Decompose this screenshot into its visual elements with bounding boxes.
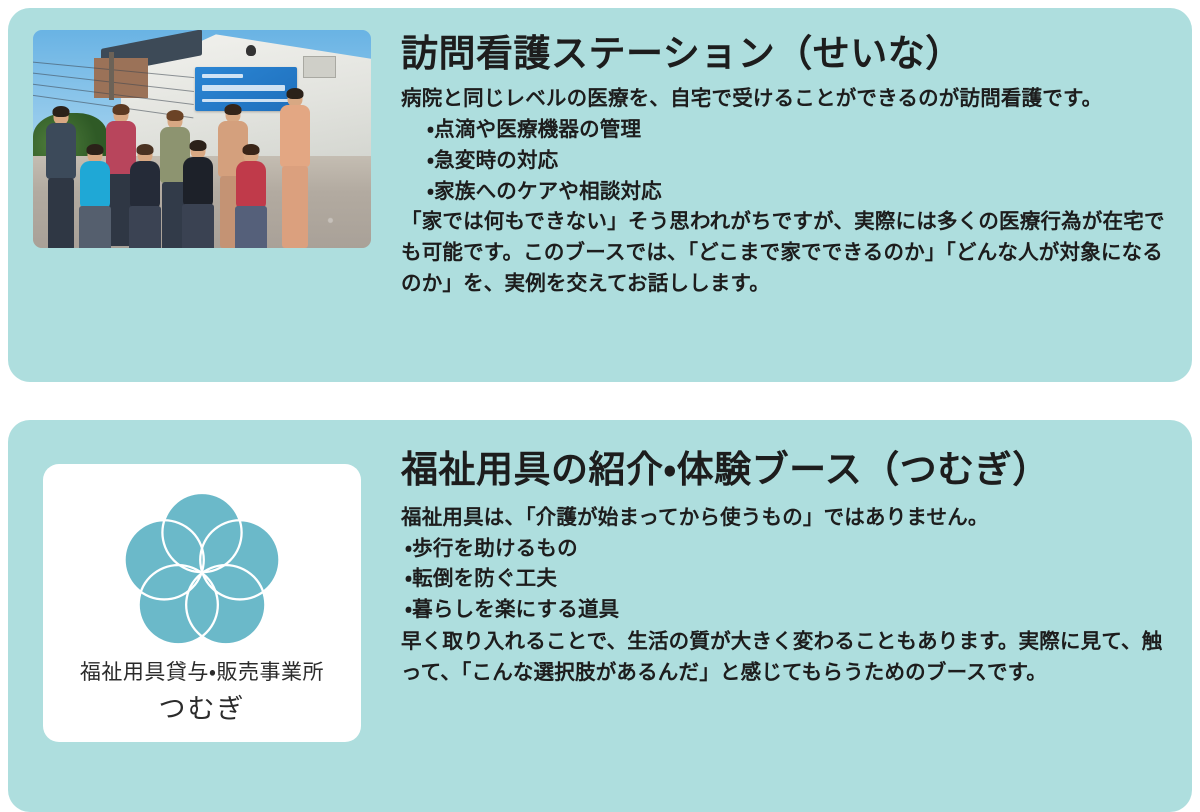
photo-wall-vent <box>303 56 335 78</box>
list-item: ・転倒を防ぐ工夫 <box>405 564 1172 595</box>
staff-group-photo <box>33 30 371 248</box>
list-item: ・点滴や医療機器の管理 <box>427 115 1172 146</box>
five-circles-logo-icon <box>114 478 290 654</box>
photo-security-camera <box>246 45 256 56</box>
card-media-column <box>33 30 373 248</box>
outro-text: 早く取り入れることで、生活の質が大きく変わることもあります。実際に見て、触って、… <box>401 626 1172 688</box>
card-visiting-nursing-station: 訪問看護ステーション（せいな） 病院と同じレベルの医療を、自宅で受けることができ… <box>8 8 1192 382</box>
list-item: ・急変時の対応 <box>427 146 1172 177</box>
logo-brand-name: つむぎ <box>159 687 246 726</box>
page-title: 福祉用具の紹介・体験ブース（つむぎ） <box>401 448 1172 492</box>
tsumugi-logo-card: 福祉用具貸与・販売事業所 つむぎ <box>43 464 361 742</box>
list-item: ・歩行を助けるもの <box>405 534 1172 565</box>
intro-text: 病院と同じレベルの医療を、自宅で受けることができるのが訪問看護です。 <box>401 84 1172 115</box>
card-text-column: 訪問看護ステーション（せいな） 病院と同じレベルの医療を、自宅で受けることができ… <box>373 30 1172 300</box>
page-root: 訪問看護ステーション（せいな） 病院と同じレベルの医療を、自宅で受けることができ… <box>0 0 1200 800</box>
feature-bullet-list: ・点滴や医療機器の管理 ・急変時の対応 ・家族へのケアや相談対応 <box>401 115 1172 207</box>
outro-text: 「家では何もできない」そう思われがちですが、実際には多くの医療行為が在宅でも可能… <box>401 207 1172 299</box>
list-item: ・暮らしを楽にする道具 <box>405 595 1172 626</box>
list-item: ・家族へのケアや相談対応 <box>427 177 1172 208</box>
intro-text: 福祉用具は、「介護が始まってから使うもの」ではありません。 <box>401 502 1172 533</box>
page-title: 訪問看護ステーション（せいな） <box>401 32 1172 76</box>
card-welfare-equipment-booth: 福祉用具貸与・販売事業所 つむぎ 福祉用具の紹介・体験ブース（つむぎ） 福祉用具… <box>8 420 1192 812</box>
photo-station-sign <box>195 67 296 111</box>
logo-business-name: 福祉用具貸与・販売事業所 <box>80 656 324 686</box>
card-text-column: 福祉用具の紹介・体験ブース（つむぎ） 福祉用具は、「介護が始まってから使うもの」… <box>373 446 1172 688</box>
photo-utility-pole <box>109 52 114 100</box>
card-media-column: 福祉用具貸与・販売事業所 つむぎ <box>33 446 373 742</box>
feature-bullet-list: ・歩行を助けるもの ・転倒を防ぐ工夫 ・暮らしを楽にする道具 <box>401 534 1172 626</box>
